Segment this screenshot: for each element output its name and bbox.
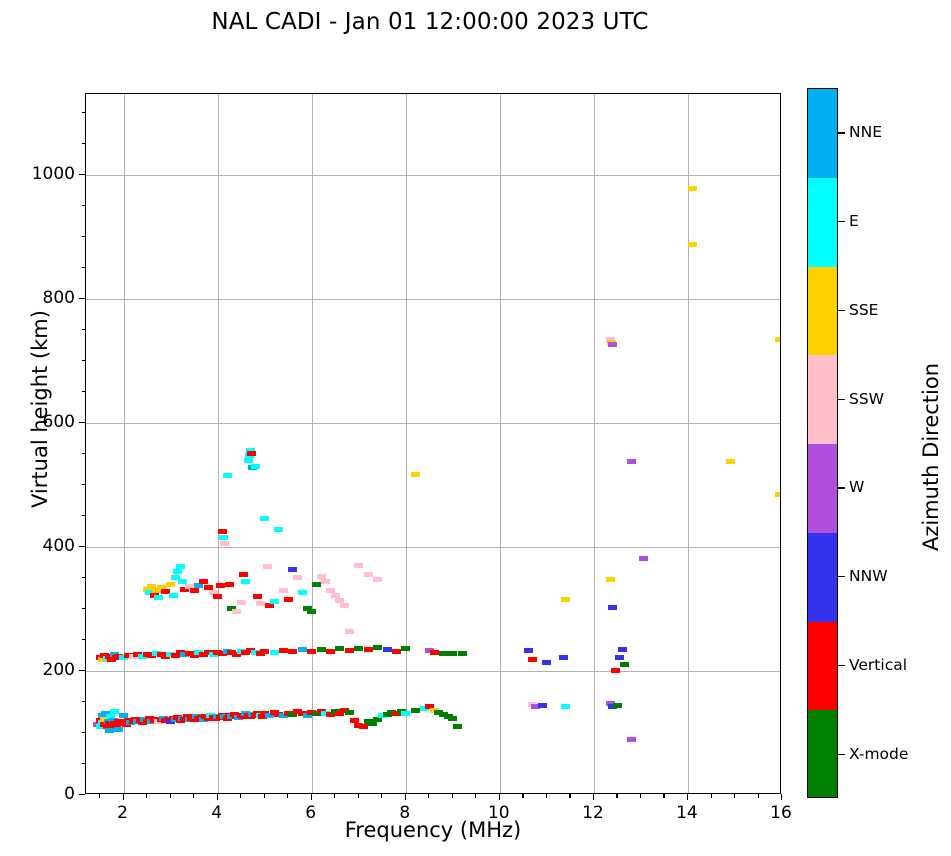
data-marker [253, 594, 262, 599]
y-axis-tick-label: 0 [0, 784, 75, 804]
data-marker [251, 464, 260, 469]
x-axis-minor-tick [569, 794, 570, 798]
x-axis-minor-tick [452, 794, 453, 798]
colorbar-tick [838, 310, 845, 311]
x-axis-minor-tick [240, 794, 241, 798]
colorbar-label-e: E [849, 212, 859, 230]
data-marker [639, 556, 648, 561]
colorbar-tick [838, 754, 845, 755]
y-axis-tick-label: 200 [0, 660, 75, 680]
y-axis-tick [79, 670, 85, 671]
data-marker [241, 579, 250, 584]
x-axis-minor-tick [287, 794, 288, 798]
data-marker [364, 572, 373, 577]
data-marker [279, 648, 288, 653]
data-marker [726, 459, 735, 464]
figure-canvas: NAL CADI - Jan 01 12:00:00 2023 UTC 2468… [0, 0, 951, 856]
data-marker [775, 492, 780, 497]
y-axis-tick [79, 546, 85, 547]
data-marker [298, 647, 307, 652]
data-marker [237, 600, 246, 605]
data-marker [220, 541, 229, 546]
x-axis-title: Frequency (MHz) [85, 818, 781, 842]
data-marker [373, 645, 382, 650]
data-marker [345, 710, 354, 715]
x-axis-minor-tick [334, 794, 335, 798]
data-marker [263, 564, 272, 569]
data-marker [458, 651, 467, 656]
plot-axes [85, 93, 781, 794]
colorbar-segment-nne[interactable] [808, 89, 837, 178]
data-marker [368, 721, 377, 726]
data-marker [307, 609, 316, 614]
colorbar-tick [838, 132, 845, 133]
y-axis-minor-tick [82, 763, 86, 764]
data-marker [448, 716, 457, 721]
gridline-horizontal [86, 175, 780, 176]
data-marker [173, 569, 182, 574]
data-marker [606, 577, 615, 582]
y-axis-minor-tick [82, 453, 86, 454]
data-marker [326, 649, 335, 654]
data-marker [312, 582, 321, 587]
x-axis-minor-tick [146, 794, 147, 798]
data-marker [298, 590, 307, 595]
data-marker [154, 595, 163, 600]
x-axis-minor-tick [734, 794, 735, 798]
colorbar-label-ssw: SSW [849, 390, 884, 408]
y-axis-tick [79, 174, 85, 175]
data-marker [176, 564, 185, 569]
y-axis-minor-tick [82, 732, 86, 733]
data-marker [392, 649, 401, 654]
gridline-vertical [124, 94, 125, 793]
data-marker [359, 724, 368, 729]
y-axis-tick [79, 298, 85, 299]
data-marker [608, 342, 617, 347]
y-axis-minor-tick [82, 143, 86, 144]
data-marker [524, 648, 533, 653]
data-marker [274, 527, 283, 532]
x-axis-minor-tick [381, 794, 382, 798]
data-marker [688, 186, 697, 191]
data-marker [411, 472, 420, 477]
data-marker [244, 458, 253, 463]
colorbar-title: Azimuth Direction [919, 307, 943, 607]
data-marker [321, 579, 330, 584]
data-marker [114, 727, 123, 732]
x-axis-minor-tick [711, 794, 712, 798]
y-axis-minor-tick [82, 484, 86, 485]
data-marker [345, 629, 354, 634]
colorbar-label-nnw: NNW [849, 567, 888, 585]
data-marker [270, 650, 279, 655]
colorbar-label-nne: NNE [849, 123, 882, 141]
data-marker [373, 577, 382, 582]
x-axis-tick [217, 794, 218, 800]
colorbar-segment-sse[interactable] [808, 267, 837, 356]
data-marker [448, 651, 457, 656]
y-axis-minor-tick [82, 205, 86, 206]
data-marker [239, 572, 248, 577]
data-marker [213, 594, 222, 599]
gridline-horizontal [86, 423, 780, 424]
data-marker [559, 655, 568, 660]
colorbar-tick [838, 221, 845, 222]
x-axis-minor-tick [546, 794, 547, 798]
data-marker [411, 708, 420, 713]
data-marker [260, 649, 269, 654]
x-axis-minor-tick [522, 794, 523, 798]
data-marker [335, 646, 344, 651]
y-axis-tick-label: 1000 [0, 164, 75, 184]
data-marker [247, 451, 256, 456]
y-axis-minor-tick [82, 391, 86, 392]
data-marker [284, 597, 293, 602]
y-axis-minor-tick [82, 577, 86, 578]
y-axis-minor-tick [82, 360, 86, 361]
data-marker [199, 579, 208, 584]
data-marker [383, 647, 392, 652]
data-marker [307, 649, 316, 654]
colorbar-segment-w[interactable] [808, 444, 837, 533]
data-marker [615, 655, 624, 660]
y-axis-minor-tick [82, 701, 86, 702]
colorbar[interactable] [807, 88, 838, 798]
gridline-horizontal [86, 671, 780, 672]
gridline-vertical [688, 94, 689, 793]
colorbar-segment-x-mode[interactable] [808, 710, 837, 798]
colorbar-tick [838, 665, 845, 666]
gridline-vertical [500, 94, 501, 793]
data-marker [354, 563, 363, 568]
x-axis-tick [593, 794, 594, 800]
data-marker [218, 529, 227, 534]
data-marker [190, 588, 199, 593]
data-marker [288, 567, 297, 572]
data-marker [401, 711, 410, 716]
data-marker [260, 516, 269, 521]
x-axis-minor-tick [170, 794, 171, 798]
x-axis-minor-tick [428, 794, 429, 798]
data-marker [340, 603, 349, 608]
colorbar-segment-e[interactable] [808, 178, 837, 267]
data-marker [265, 603, 274, 608]
y-axis-minor-tick [82, 639, 86, 640]
gridline-horizontal [86, 547, 780, 548]
data-marker [166, 582, 175, 587]
gridline-vertical [594, 94, 595, 793]
gridline-vertical [406, 94, 407, 793]
y-axis-minor-tick [82, 329, 86, 330]
y-axis-tick [79, 794, 85, 795]
colorbar-tick [838, 399, 845, 400]
y-axis-minor-tick [82, 112, 86, 113]
data-marker [216, 583, 225, 588]
data-marker [364, 647, 373, 652]
x-axis-minor-tick [640, 794, 641, 798]
data-marker [688, 242, 697, 247]
colorbar-label-w: W [849, 478, 864, 496]
data-marker [627, 459, 636, 464]
y-axis-minor-tick [82, 236, 86, 237]
x-axis-minor-tick [193, 794, 194, 798]
x-axis-minor-tick [475, 794, 476, 798]
gridline-vertical [312, 94, 313, 793]
x-axis-tick [499, 794, 500, 800]
x-axis-minor-tick [758, 794, 759, 798]
data-marker [354, 646, 363, 651]
data-marker [608, 605, 617, 610]
data-marker [542, 660, 551, 665]
x-axis-minor-tick [264, 794, 265, 798]
data-marker [178, 579, 187, 584]
data-marker [528, 657, 537, 662]
data-marker [430, 650, 439, 655]
x-axis-minor-tick [663, 794, 664, 798]
data-marker [110, 709, 119, 714]
data-marker [561, 597, 570, 602]
colorbar-label-x-mode: X-mode [849, 745, 908, 763]
x-axis-tick [687, 794, 688, 800]
colorbar-tick [838, 487, 845, 488]
data-marker [270, 599, 279, 604]
data-marker [775, 337, 780, 342]
data-marker [293, 575, 302, 580]
colorbar-segment-ssw[interactable] [808, 355, 837, 444]
data-marker [288, 649, 297, 654]
data-marker [439, 651, 448, 656]
data-marker [345, 648, 354, 653]
data-marker [618, 647, 627, 652]
y-axis-tick [79, 422, 85, 423]
data-marker [538, 703, 547, 708]
y-axis-title: Virtual height (km) [28, 259, 52, 559]
colorbar-label-vertical: Vertical [849, 656, 907, 674]
data-marker [279, 588, 288, 593]
x-axis-tick [781, 794, 782, 800]
colorbar-tick [838, 576, 845, 577]
x-axis-tick [405, 794, 406, 800]
y-axis-minor-tick [82, 267, 86, 268]
data-marker [620, 662, 629, 667]
gridline-horizontal [86, 299, 780, 300]
x-axis-tick [123, 794, 124, 800]
data-marker [223, 473, 232, 478]
data-marker [613, 703, 622, 708]
x-axis-tick [311, 794, 312, 800]
data-marker [611, 668, 620, 673]
data-marker [225, 582, 234, 587]
y-axis-minor-tick [82, 608, 86, 609]
data-marker [169, 593, 178, 598]
x-axis-minor-tick [358, 794, 359, 798]
x-axis-minor-tick [616, 794, 617, 798]
data-marker [219, 535, 228, 540]
plot-area [86, 94, 780, 793]
data-marker [401, 646, 410, 651]
data-marker [317, 647, 326, 652]
colorbar-segment-vertical[interactable] [808, 622, 837, 711]
x-axis-minor-tick [99, 794, 100, 798]
data-marker [105, 728, 114, 733]
y-axis-minor-tick [82, 515, 86, 516]
colorbar-segment-nnw[interactable] [808, 533, 837, 622]
gridline-vertical [218, 94, 219, 793]
colorbar-label-sse: SSE [849, 301, 878, 319]
data-marker [627, 737, 636, 742]
data-marker [453, 724, 462, 729]
data-marker [561, 704, 570, 709]
data-marker [232, 609, 241, 614]
page-title: NAL CADI - Jan 01 12:00:00 2023 UTC [0, 9, 860, 35]
data-marker [256, 601, 265, 606]
